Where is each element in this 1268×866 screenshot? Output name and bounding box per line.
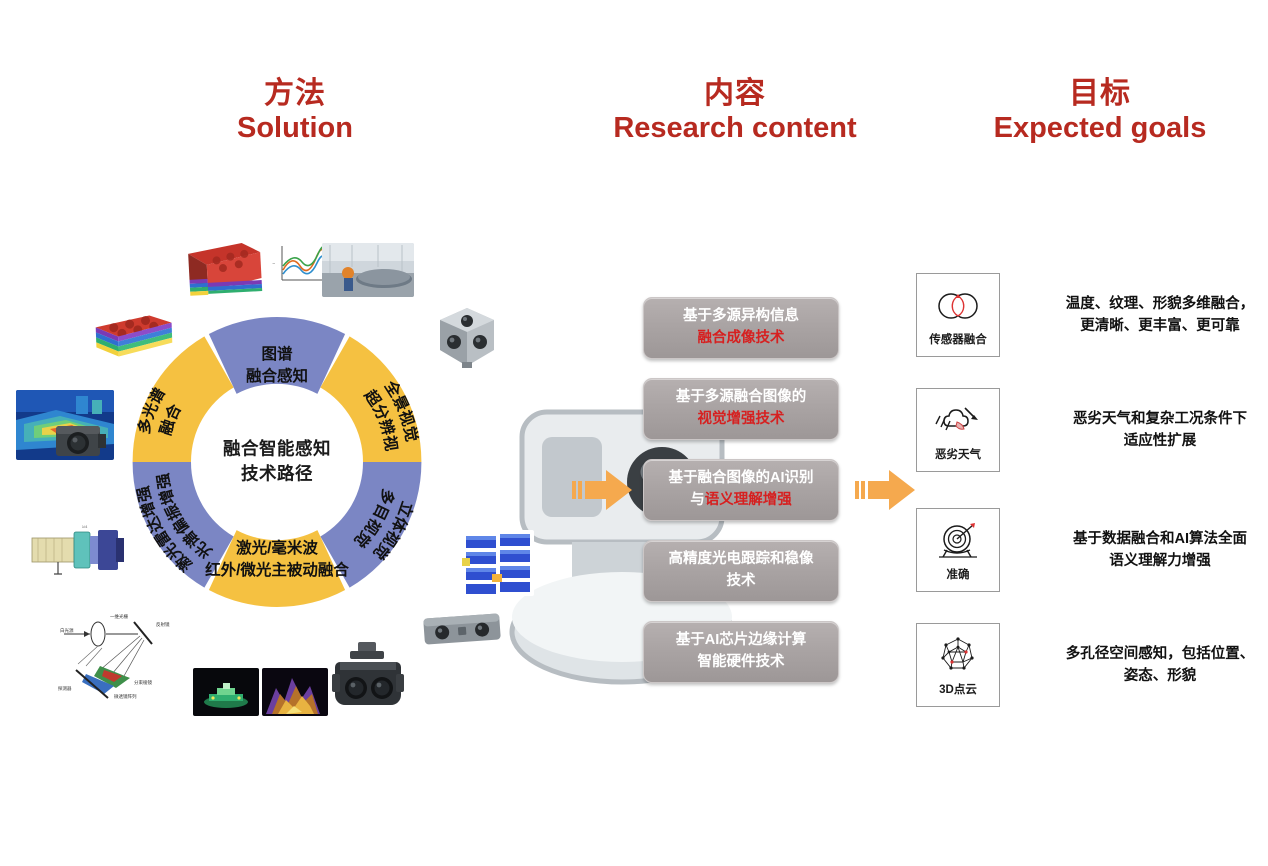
process-box-visual-enhance-line2-highlight: 视觉增强技术 [698, 411, 785, 427]
header-content-en: Research content [590, 111, 880, 145]
donut-label-laser-line2: 红外/微光主被动融合 [205, 560, 349, 579]
goal-card-sensor-fusion[interactable]: 传感器融合 [916, 273, 1000, 357]
point-cloud-icon [936, 634, 980, 678]
arrow-solution-to-content [572, 462, 634, 518]
goal-desc-bad-weather-line1: 恶劣天气和复杂工况条件下 [1030, 408, 1268, 430]
process-box-fusion-imaging-line1: 基于多源异构信息 [683, 306, 799, 328]
goal-desc-accuracy: 基于数据融合和AI算法全面 语义理解力增强 [1030, 528, 1268, 573]
goal-card-bad-weather-caption: 恶劣天气 [935, 446, 981, 462]
process-box-visual-enhance[interactable]: 基于多源融合图像的 视觉增强技术 [643, 378, 839, 440]
thumbnail-hyperspectral-cube [181, 236, 266, 302]
process-box-optical-tracking-line2-plain: 技术 [727, 573, 756, 589]
svg-text:微透镜阵列: 微透镜阵列 [114, 693, 137, 700]
thumbnail-night-vision-thermal [262, 668, 328, 716]
thumbnail-polarization-optics: λ/4 [28, 520, 128, 580]
goal-desc-sensor-fusion-line2: 更清晰、更丰富、更可靠 [1030, 315, 1268, 337]
thumbnail-optical-path-diagram: 白光源 一维光栅 反射镜 分束棱镜 微透镜阵列 探测器 [56, 608, 186, 700]
goal-desc-point-cloud-3d-line1: 多孔径空间感知，包括位置、 [1030, 643, 1268, 665]
goal-desc-accuracy-line2: 语义理解力增强 [1030, 550, 1268, 572]
process-box-ai-chip-hardware[interactable]: 基于AI芯片边缘计算 智能硬件技术 [643, 621, 839, 683]
svg-text:反射镜: 反射镜 [156, 621, 170, 628]
goal-desc-point-cloud-3d-line2: 姿态、形貌 [1030, 665, 1268, 687]
goal-desc-point-cloud-3d: 多孔径空间感知，包括位置、 姿态、形貌 [1030, 643, 1268, 688]
svg-text:白光源: 白光源 [60, 627, 74, 634]
donut-label-atlas-fusion-line2: 融合感知 [246, 366, 308, 385]
goal-row-accuracy: 准确 基于数据融合和AI算法全面 语义理解力增强 [916, 508, 1268, 592]
svg-text:I: I [272, 263, 276, 264]
column-header-solution: 方法 Solution [180, 76, 410, 146]
thumbnail-night-vision-frames [193, 668, 259, 716]
process-box-optical-tracking-line1: 高精度光电跟踪和稳像 [669, 549, 814, 571]
goal-card-accuracy-caption: 准确 [947, 566, 970, 582]
goal-card-accuracy[interactable]: 准确 [916, 508, 1000, 592]
goal-desc-accuracy-line1: 基于数据融合和AI算法全面 [1030, 528, 1268, 550]
svg-text:λ/4: λ/4 [82, 524, 88, 529]
process-box-ai-recognition-line1: 基于融合图像的AI识别 [669, 468, 814, 490]
venn-circles-icon [934, 284, 982, 328]
header-solution-en: Solution [180, 111, 410, 145]
process-box-visual-enhance-line1: 基于多源融合图像的 [676, 387, 807, 409]
donut-center-text: 融合智能感知 技术路径 [177, 437, 377, 488]
process-box-optical-tracking[interactable]: 高精度光电跟踪和稳像 技术 [643, 540, 839, 602]
thumbnail-lidar-point-blocks [462, 530, 534, 596]
goal-desc-sensor-fusion-line1: 温度、纹理、形貌多维融合， [1030, 293, 1268, 315]
process-box-ai-chip-hardware-line1: 基于AI芯片边缘计算 [676, 630, 807, 652]
column-header-goals: 目标 Expected goals [950, 76, 1250, 146]
thumbnail-infrared-camera [52, 418, 110, 462]
process-box-ai-recognition-line2-highlight: 语义理解增强 [705, 492, 792, 508]
donut-center-line1: 融合智能感知 [177, 437, 377, 462]
header-goals-en: Expected goals [950, 111, 1250, 145]
svg-text:探测器: 探测器 [58, 685, 72, 692]
goal-card-bad-weather[interactable]: 恶劣天气 [916, 388, 1000, 472]
thumbnail-pipeline-inspection [322, 243, 414, 297]
arrow-content-to-goals [855, 462, 917, 518]
goal-row-point-cloud-3d: 3D点云 多孔径空间感知，包括位置、 姿态、形貌 [916, 623, 1268, 707]
thumbnail-panoramic-camera-ball [432, 306, 502, 370]
process-box-ai-recognition[interactable]: 基于融合图像的AI识别 与语义理解增强 [643, 459, 839, 521]
goal-desc-bad-weather: 恶劣天气和复杂工况条件下 适应性扩展 [1030, 408, 1268, 453]
target-dart-icon [935, 519, 981, 563]
process-box-ai-chip-hardware-line2-plain: 智能硬件技术 [698, 654, 785, 670]
process-box-fusion-imaging[interactable]: 基于多源异构信息 融合成像技术 [643, 297, 839, 359]
technology-roadmap-donut: 图谱 融合感知 激光/毫米波 红外/微光主被动融合 全景视觉 与超分辨视觉 立体… [118, 303, 436, 621]
goal-desc-bad-weather-line2: 适应性扩展 [1030, 430, 1268, 452]
goal-card-sensor-fusion-caption: 传感器融合 [929, 331, 987, 347]
process-box-fusion-imaging-line2-highlight: 融合成像技术 [698, 330, 785, 346]
header-solution-cn: 方法 [180, 76, 410, 111]
donut-label-atlas-fusion-line1: 图谱 [261, 344, 293, 363]
header-goals-cn: 目标 [950, 76, 1250, 111]
column-header-content: 内容 Research content [590, 76, 880, 146]
svg-text:分束棱镜: 分束棱镜 [134, 679, 152, 686]
process-box-ai-recognition-line2-plain: 与 [690, 492, 705, 508]
goal-row-sensor-fusion: 传感器融合 温度、纹理、形貌多维融合， 更清晰、更丰富、更可靠 [916, 273, 1268, 357]
thumbnail-gimbal-eo-pod [330, 640, 406, 714]
goal-card-point-cloud-3d-caption: 3D点云 [939, 681, 977, 697]
header-content-cn: 内容 [590, 76, 880, 111]
donut-label-laser-line1: 激光/毫米波 [236, 538, 318, 557]
goal-card-point-cloud-3d[interactable]: 3D点云 [916, 623, 1000, 707]
goal-row-bad-weather: 恶劣天气 恶劣天气和复杂工况条件下 适应性扩展 [916, 388, 1268, 472]
goal-desc-sensor-fusion: 温度、纹理、形貌多维融合， 更清晰、更丰富、更可靠 [1030, 293, 1268, 338]
rain-cloud-icon [935, 399, 981, 443]
donut-center-line2: 技术路径 [177, 462, 377, 487]
